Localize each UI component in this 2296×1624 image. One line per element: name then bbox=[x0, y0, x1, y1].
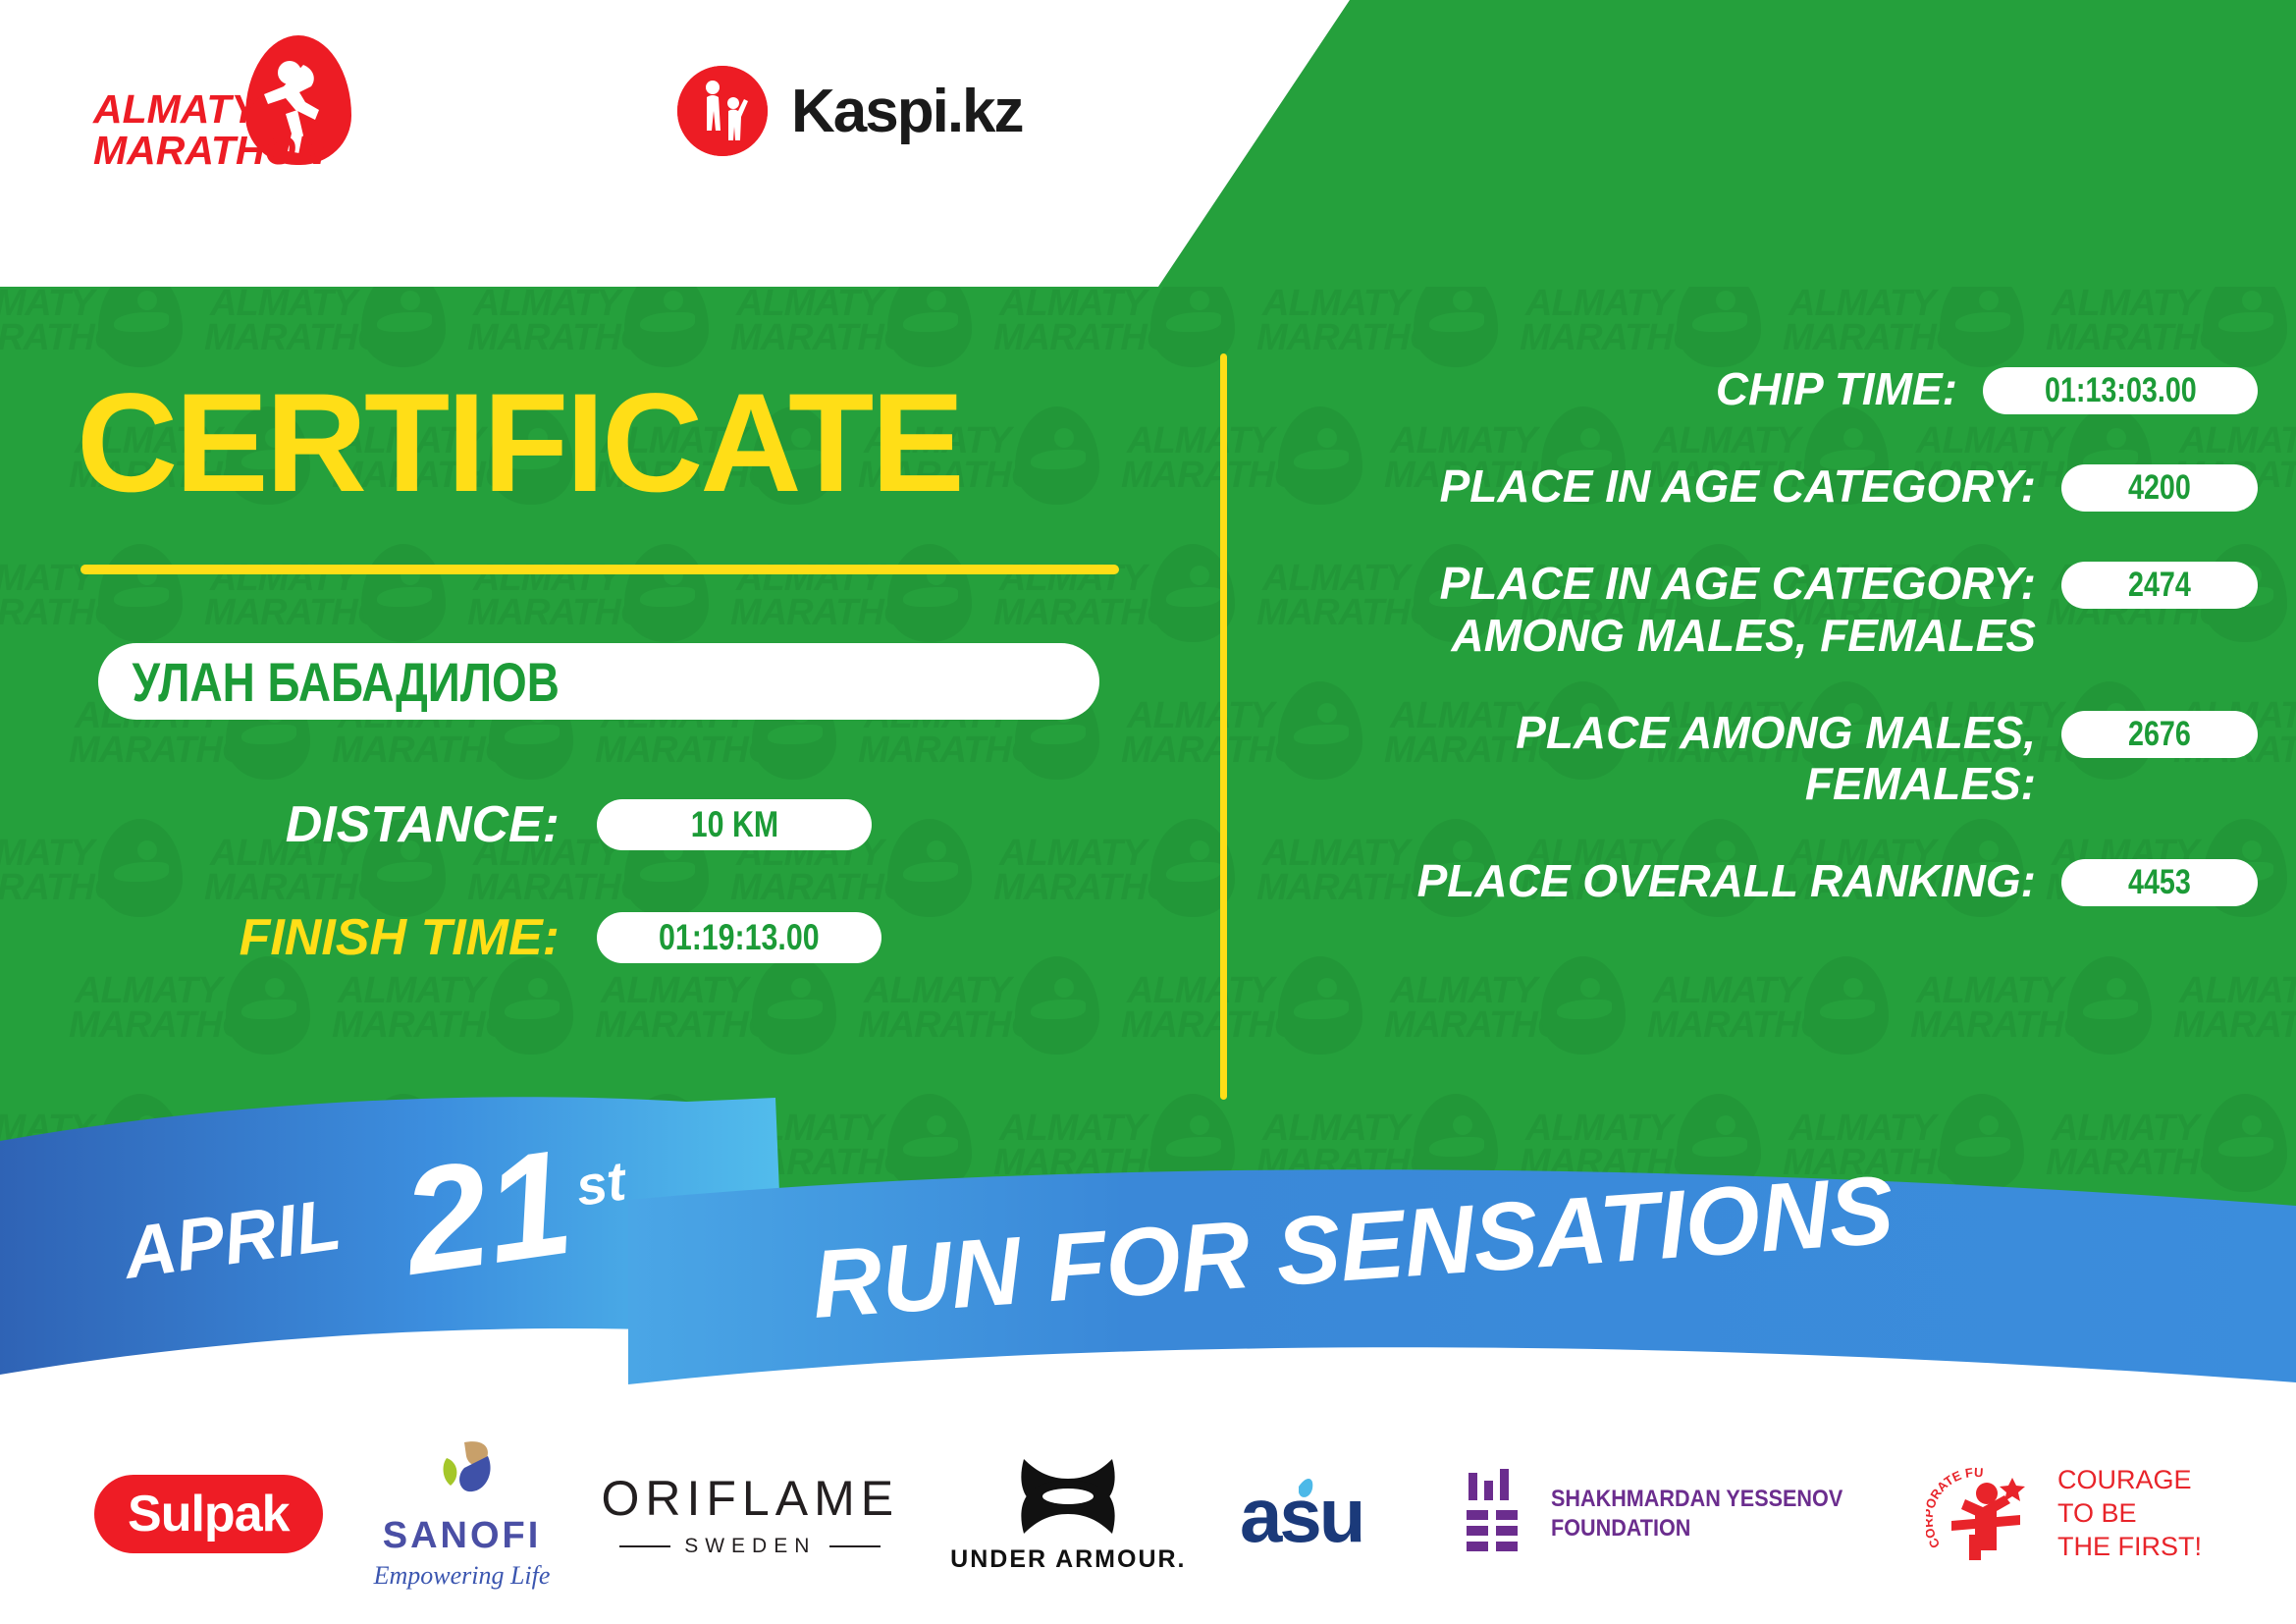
oriflame-logo-text: ORIFLAME bbox=[602, 1470, 900, 1527]
result-row: PLACE IN AGE CATEGORY: AMONG MALES, FEMA… bbox=[1266, 558, 2258, 662]
yessenov-line1: SHAKHMARDAN YESSENOV bbox=[1551, 1485, 1842, 1514]
yessenov-line2: FOUNDATION bbox=[1551, 1514, 1842, 1543]
title-underline bbox=[80, 565, 1119, 574]
kaspi-people-circle-icon bbox=[677, 66, 768, 156]
sponsor-sanofi: SANOFI Empowering Life bbox=[374, 1438, 551, 1591]
result-value: 01:13:03.00 bbox=[2045, 371, 2197, 410]
svg-text:21: 21 bbox=[391, 1118, 581, 1307]
sanofi-mark-icon bbox=[413, 1438, 511, 1511]
under-armour-text: UNDER ARMOUR. bbox=[950, 1545, 1186, 1574]
almaty-logo-line1: ALMATY bbox=[93, 86, 258, 133]
kaspi-logo-text: Kaspi.kz bbox=[791, 77, 1023, 146]
sponsor-asu: asu bbox=[1238, 1469, 1410, 1559]
event-ribbon: APRIL 21 st RUN FOR SENSATIONS bbox=[0, 1090, 2296, 1414]
oriflame-rule-right bbox=[829, 1545, 881, 1547]
courage-line2: TO BE bbox=[2057, 1497, 2202, 1531]
sponsor-bar: Sulpak SANOFI Empowering Life ORIFLAME S… bbox=[0, 1404, 2296, 1624]
sponsor-under-armour: UNDER ARMOUR. bbox=[950, 1455, 1186, 1574]
result-label: PLACE OVERALL RANKING: bbox=[1266, 855, 2061, 907]
result-label: PLACE AMONG MALES, FEMALES: bbox=[1266, 707, 2061, 811]
kaspi-logo: Kaspi.kz bbox=[677, 57, 1023, 165]
result-value-pill: 2474 bbox=[2061, 562, 2258, 609]
sanofi-logo-text: SANOFI bbox=[383, 1515, 542, 1557]
result-value-pill: 2676 bbox=[2061, 711, 2258, 758]
result-value: 4200 bbox=[2128, 468, 2191, 508]
courage-runner-icon: CORPORATE FUND bbox=[1926, 1460, 2042, 1568]
result-row: PLACE OVERALL RANKING:4453 bbox=[1266, 855, 2258, 907]
result-label: PLACE IN AGE CATEGORY: AMONG MALES, FEMA… bbox=[1266, 558, 2061, 662]
result-label: CHIP TIME: bbox=[1266, 363, 1983, 415]
sanofi-tagline: Empowering Life bbox=[374, 1561, 551, 1591]
distance-value: 10 KM bbox=[690, 804, 777, 845]
result-value: 2676 bbox=[2128, 715, 2191, 754]
result-row: CHIP TIME:01:13:03.00 bbox=[1266, 363, 2258, 415]
distance-label: DISTANCE: bbox=[265, 795, 560, 854]
courage-line3: THE FIRST! bbox=[2057, 1531, 2202, 1564]
almaty-logo-line2: MARATHON bbox=[93, 128, 325, 174]
sponsor-courage-fund: CORPORATE FUND COURAGE TO BE THE FIRST! bbox=[1926, 1460, 2202, 1568]
oriflame-rule-left bbox=[619, 1545, 670, 1547]
result-value-pill: 4453 bbox=[2061, 859, 2258, 906]
participant-name-field: УЛАН БАБАДИЛОВ bbox=[98, 643, 1099, 720]
results-panel: CHIP TIME:01:13:03.00PLACE IN AGE CATEGO… bbox=[1266, 363, 2258, 952]
sponsor-sulpak: Sulpak bbox=[94, 1475, 323, 1553]
certificate-page: ALMATYMARATHONALMATYMARATHONALMATYMARATH… bbox=[0, 0, 2296, 1624]
under-armour-icon bbox=[1004, 1455, 1132, 1538]
vertical-divider bbox=[1220, 353, 1227, 1100]
distance-row: DISTANCE: 10 KM bbox=[265, 795, 872, 854]
result-value-pill: 01:13:03.00 bbox=[1983, 367, 2258, 414]
yessenov-bars-icon bbox=[1461, 1469, 1529, 1559]
courage-line1: COURAGE bbox=[2057, 1464, 2202, 1497]
result-value-pill: 4200 bbox=[2061, 464, 2258, 512]
distance-value-pill: 10 KM bbox=[597, 799, 872, 850]
participant-name-value: УЛАН БАБАДИЛОВ bbox=[98, 650, 560, 714]
result-label: PLACE IN AGE CATEGORY: bbox=[1266, 460, 2061, 513]
sulpak-logo-text: Sulpak bbox=[128, 1485, 290, 1543]
finish-time-row: FINISH TIME: 01:19:13.00 bbox=[196, 908, 881, 967]
page-title: CERTIFICATE bbox=[77, 373, 962, 514]
result-row: PLACE AMONG MALES, FEMALES:2676 bbox=[1266, 707, 2258, 811]
result-value: 4453 bbox=[2128, 863, 2191, 902]
finish-time-value: 01:19:13.00 bbox=[659, 917, 820, 958]
result-row: PLACE IN AGE CATEGORY:4200 bbox=[1266, 460, 2258, 513]
finish-time-value-pill: 01:19:13.00 bbox=[597, 912, 881, 963]
sponsor-yessenov-foundation: SHAKHMARDAN YESSENOV FOUNDATION bbox=[1461, 1469, 1875, 1559]
finish-time-label: FINISH TIME: bbox=[196, 908, 560, 967]
result-value: 2474 bbox=[2128, 566, 2191, 605]
oriflame-sub-text: SWEDEN bbox=[684, 1535, 816, 1558]
sponsor-oriflame: ORIFLAME SWEDEN bbox=[602, 1470, 900, 1558]
asu-logo-icon: asu bbox=[1238, 1469, 1410, 1559]
almaty-marathon-logo: ALMATY MARATHON bbox=[93, 41, 388, 159]
